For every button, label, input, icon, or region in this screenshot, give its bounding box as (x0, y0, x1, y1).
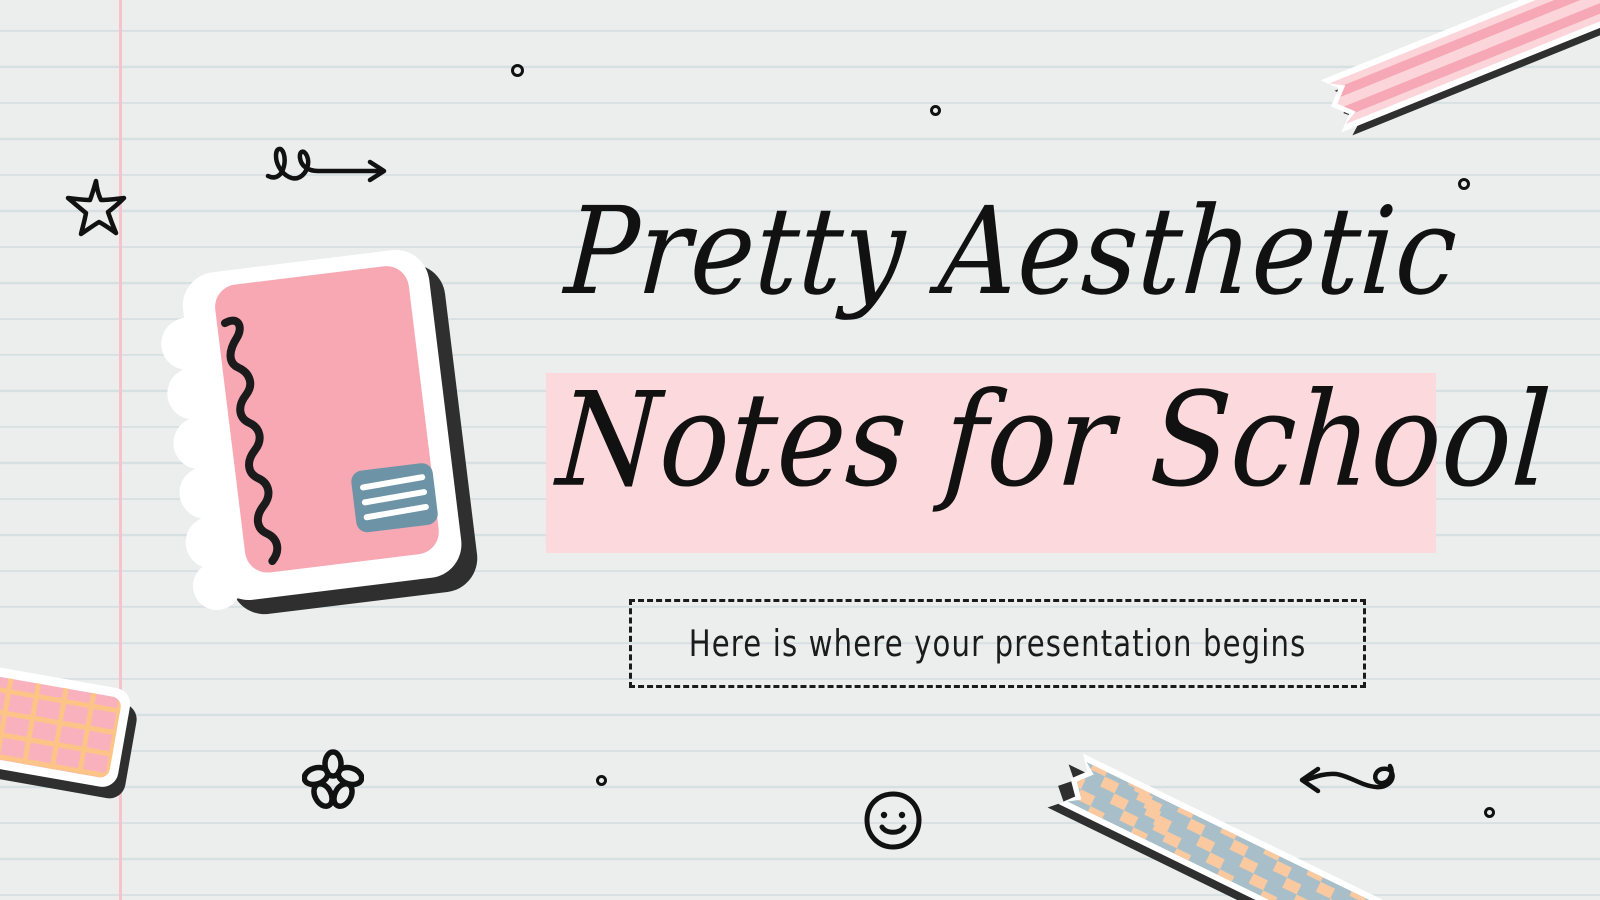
star-doodle (63, 176, 133, 238)
ring-doodle-5 (1484, 807, 1495, 818)
flower-doodle (302, 748, 364, 810)
ring-doodle-4 (596, 775, 607, 786)
smiley-face-doodle (862, 790, 924, 852)
chevron-washi-tape (1030, 745, 1430, 900)
spiral-notebook-sticker (152, 232, 492, 617)
ring-doodle-2 (930, 105, 941, 116)
subtitle-text: Here is where your presentation begins (689, 622, 1307, 664)
subtitle-box[interactable]: Here is where your presentation begins (629, 599, 1366, 688)
pink-striped-washi-tape (1290, 0, 1600, 148)
pink-grid-sticker (0, 645, 240, 825)
ring-doodle-1 (511, 64, 524, 77)
title-line-2: Notes for School (554, 376, 1554, 506)
presentation-slide: Pretty Aesthetic Notes for School Here i… (0, 0, 1600, 900)
title-line-1: Pretty Aesthetic (562, 192, 1461, 313)
curly-arrow-right-doodle (262, 138, 394, 188)
